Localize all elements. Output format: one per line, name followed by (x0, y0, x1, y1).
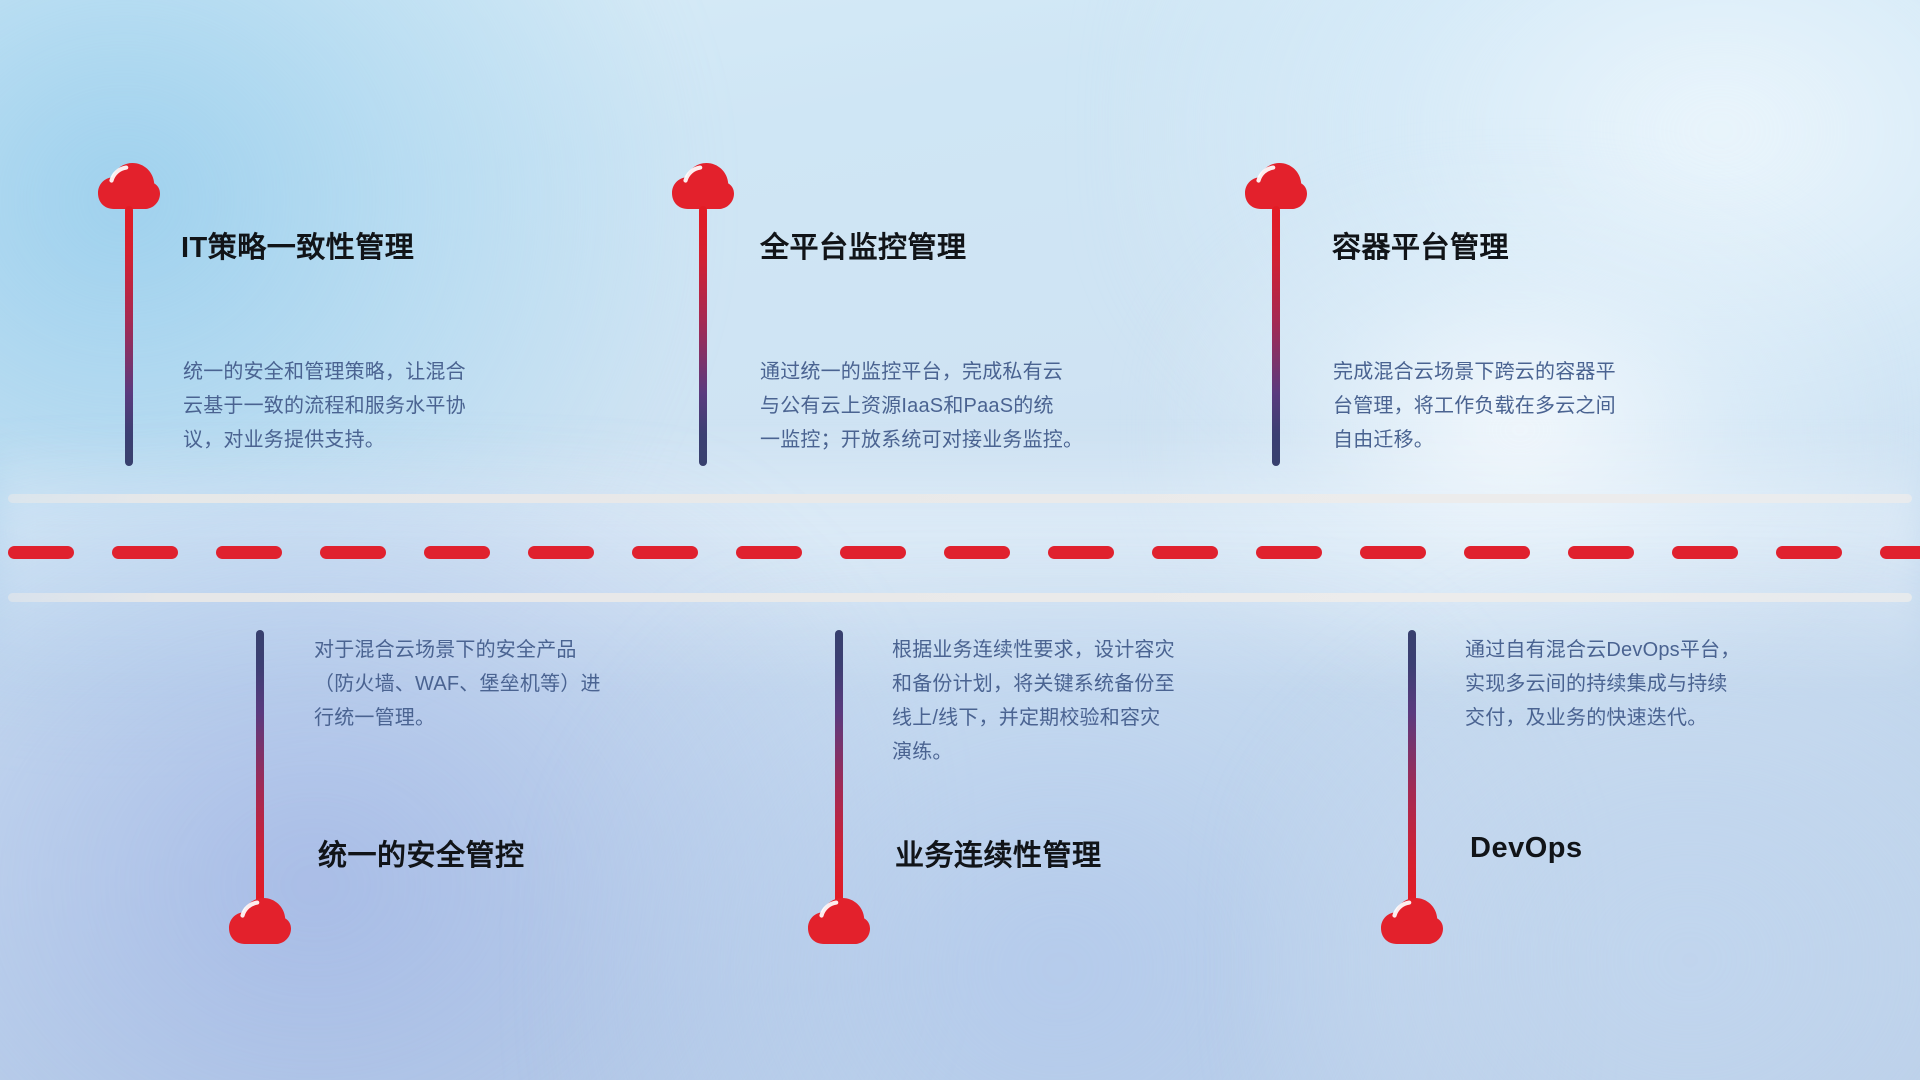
road-dash (1048, 546, 1114, 559)
cloud-icon (98, 163, 160, 211)
road-dash (1360, 546, 1426, 559)
card-body: 通过自有混合云DevOps平台， 实现多云间的持续集成与持续 交付，及业务的快速… (1465, 633, 1905, 735)
body-line: 和备份计划，将关键系统备份至 (892, 667, 1352, 701)
card-title: 全平台监控管理 (760, 224, 967, 266)
stem-line (699, 206, 707, 466)
road-dash (1776, 546, 1842, 559)
card-body: 通过统一的监控平台，完成私有云 与公有云上资源IaaS和PaaS的统 一监控；开… (760, 355, 1220, 457)
body-line: （防火墙、WAF、堡垒机等）进 (314, 667, 754, 701)
body-line: 自由迁移。 (1333, 423, 1773, 457)
road-dash (528, 546, 594, 559)
card-body: 对于混合云场景下的安全产品 （防火墙、WAF、堡垒机等）进 行统一管理。 (314, 633, 754, 735)
road-dash (1568, 546, 1634, 559)
road-dash (944, 546, 1010, 559)
card-title: 统一的安全管控 (318, 832, 525, 874)
stem-line (1408, 630, 1416, 906)
cloud-icon (229, 898, 291, 946)
cloud-icon (672, 163, 734, 211)
infographic-canvas: IT策略一致性管理 统一的安全和管理策略，让混合 云基于一致的流程和服务水平协 … (0, 0, 1920, 1080)
road-dash (112, 546, 178, 559)
body-line: 线上/线下，并定期校验和容灾 (892, 701, 1352, 735)
stem-line (835, 630, 843, 906)
road-dash (216, 546, 282, 559)
body-line: 完成混合云场景下跨云的容器平 (1333, 355, 1773, 389)
body-line: 对于混合云场景下的安全产品 (314, 633, 754, 667)
divider-line-top (8, 494, 1912, 503)
stem-line (256, 630, 264, 906)
body-line: 行统一管理。 (314, 701, 754, 735)
road-dash (1256, 546, 1322, 559)
road-dash (736, 546, 802, 559)
body-line: 云基于一致的流程和服务水平协 (183, 389, 623, 423)
card-body: 根据业务连续性要求，设计容灾 和备份计划，将关键系统备份至 线上/线下，并定期校… (892, 633, 1352, 769)
body-line: 与公有云上资源IaaS和PaaS的统 (760, 389, 1220, 423)
road-dash (1672, 546, 1738, 559)
dashed-road-divider (0, 545, 1920, 559)
road-dash (1152, 546, 1218, 559)
body-line: 交付，及业务的快速迭代。 (1465, 701, 1905, 735)
card-title: 业务连续性管理 (895, 832, 1102, 874)
road-dash (1880, 546, 1920, 559)
body-line: 根据业务连续性要求，设计容灾 (892, 633, 1352, 667)
road-dash (424, 546, 490, 559)
card-title: 容器平台管理 (1332, 224, 1509, 266)
card-body: 完成混合云场景下跨云的容器平 台管理，将工作负载在多云之间 自由迁移。 (1333, 355, 1773, 457)
road-dash (320, 546, 386, 559)
body-line: 一监控；开放系统可对接业务监控。 (760, 423, 1220, 457)
divider-line-bottom (8, 593, 1912, 602)
body-line: 演练。 (892, 735, 1352, 769)
stem-line (125, 206, 133, 466)
card-title: DevOps (1470, 832, 1583, 865)
card-title: IT策略一致性管理 (181, 224, 414, 266)
body-line: 通过统一的监控平台，完成私有云 (760, 355, 1220, 389)
body-line: 实现多云间的持续集成与持续 (1465, 667, 1905, 701)
card-body: 统一的安全和管理策略，让混合 云基于一致的流程和服务水平协 议，对业务提供支持。 (183, 355, 623, 457)
road-dash (1464, 546, 1530, 559)
road-dash (8, 546, 74, 559)
cloud-icon (1381, 898, 1443, 946)
body-line: 议，对业务提供支持。 (183, 423, 623, 457)
body-line: 台管理，将工作负载在多云之间 (1333, 389, 1773, 423)
cloud-icon (1245, 163, 1307, 211)
stem-line (1272, 206, 1280, 466)
road-dash (632, 546, 698, 559)
body-line: 通过自有混合云DevOps平台， (1465, 633, 1905, 667)
body-line: 统一的安全和管理策略，让混合 (183, 355, 623, 389)
road-dash (840, 546, 906, 559)
cloud-icon (808, 898, 870, 946)
